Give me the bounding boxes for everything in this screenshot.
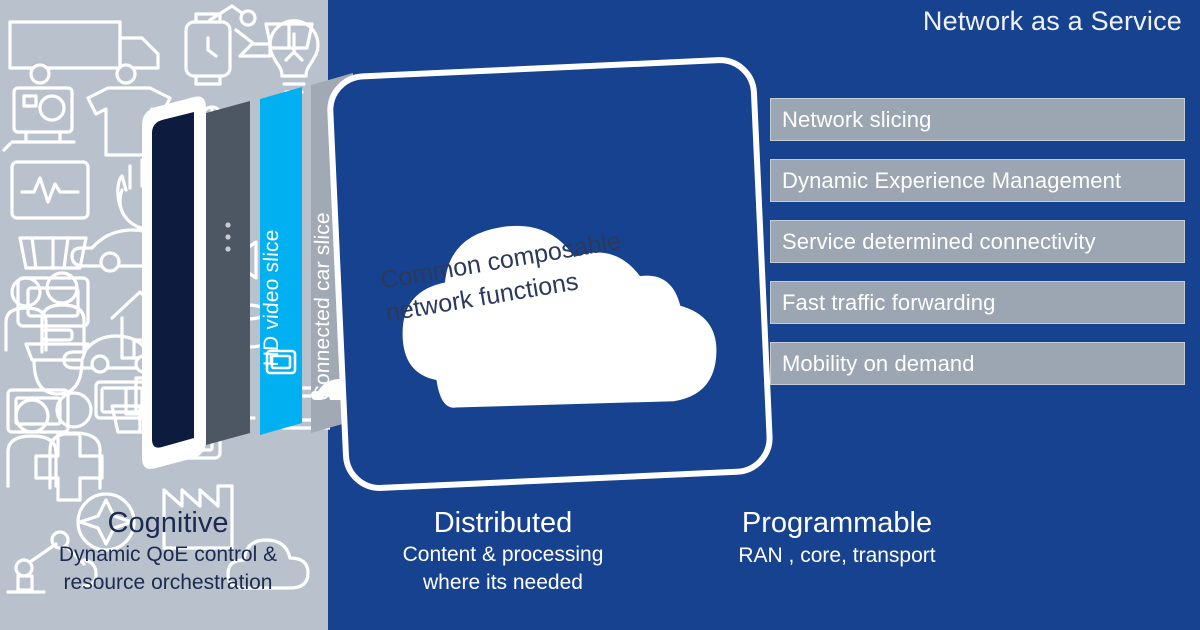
capability-item-fast-traffic-forwarding[interactable]: Fast traffic forwarding <box>770 281 1185 324</box>
ellipsis-icon <box>225 222 230 251</box>
capability-item-dynamic-experience-management[interactable]: Dynamic Experience Management <box>770 159 1185 202</box>
capability-list: Network slicing Dynamic Experience Manag… <box>770 98 1185 403</box>
capability-label: Fast traffic forwarding <box>782 290 995 316</box>
caption-cognitive: Cognitive Dynamic QoE control & resource… <box>28 507 308 596</box>
caption-heading: Distributed <box>358 507 648 540</box>
network-slice-stack: HD video slice Connected car slice Smart… <box>130 55 350 515</box>
caption-heading: Cognitive <box>28 507 308 540</box>
slice-label-hd-video: HD video slice <box>260 229 284 367</box>
people-bottom-icon <box>8 393 100 488</box>
capability-item-mobility-on-demand[interactable]: Mobility on demand <box>770 342 1185 385</box>
page-title: Network as a Service <box>923 6 1182 37</box>
caption-distributed: Distributed Content & processing where i… <box>358 507 648 596</box>
action-camera-icon <box>4 88 74 150</box>
slice-item-2 <box>206 101 250 445</box>
common-functions-container: Common composable network functions <box>326 50 776 500</box>
caption-subline-1: RAN , core, transport <box>672 543 1002 569</box>
capability-label: Network slicing <box>782 107 931 133</box>
caption-subline-2: resource orchestration <box>28 570 308 596</box>
capability-label: Dynamic Experience Management <box>782 168 1121 194</box>
caption-subline-1: Dynamic QoE control & <box>28 542 308 568</box>
capability-label: Service determined connectivity <box>782 229 1096 255</box>
capability-label: Mobility on demand <box>782 351 975 377</box>
caption-programmable: Programmable RAN , core, transport <box>672 507 1002 569</box>
caption-subline-2: where its needed <box>358 570 648 596</box>
capability-item-service-determined-connectivity[interactable]: Service determined connectivity <box>770 220 1185 263</box>
medical-cross-icon <box>36 434 102 500</box>
capability-item-network-slicing[interactable]: Network slicing <box>770 98 1185 141</box>
dome-camera-icon <box>26 330 88 394</box>
tablet-heartbeat-icon <box>12 162 88 218</box>
slice-item-1 <box>152 112 194 448</box>
diagram-canvas: HD video slice Connected car slice Smart… <box>0 0 1200 630</box>
robot-arm-icon <box>210 6 270 56</box>
caption-heading: Programmable <box>672 507 1002 540</box>
caption-subline-1: Content & processing <box>358 542 648 568</box>
